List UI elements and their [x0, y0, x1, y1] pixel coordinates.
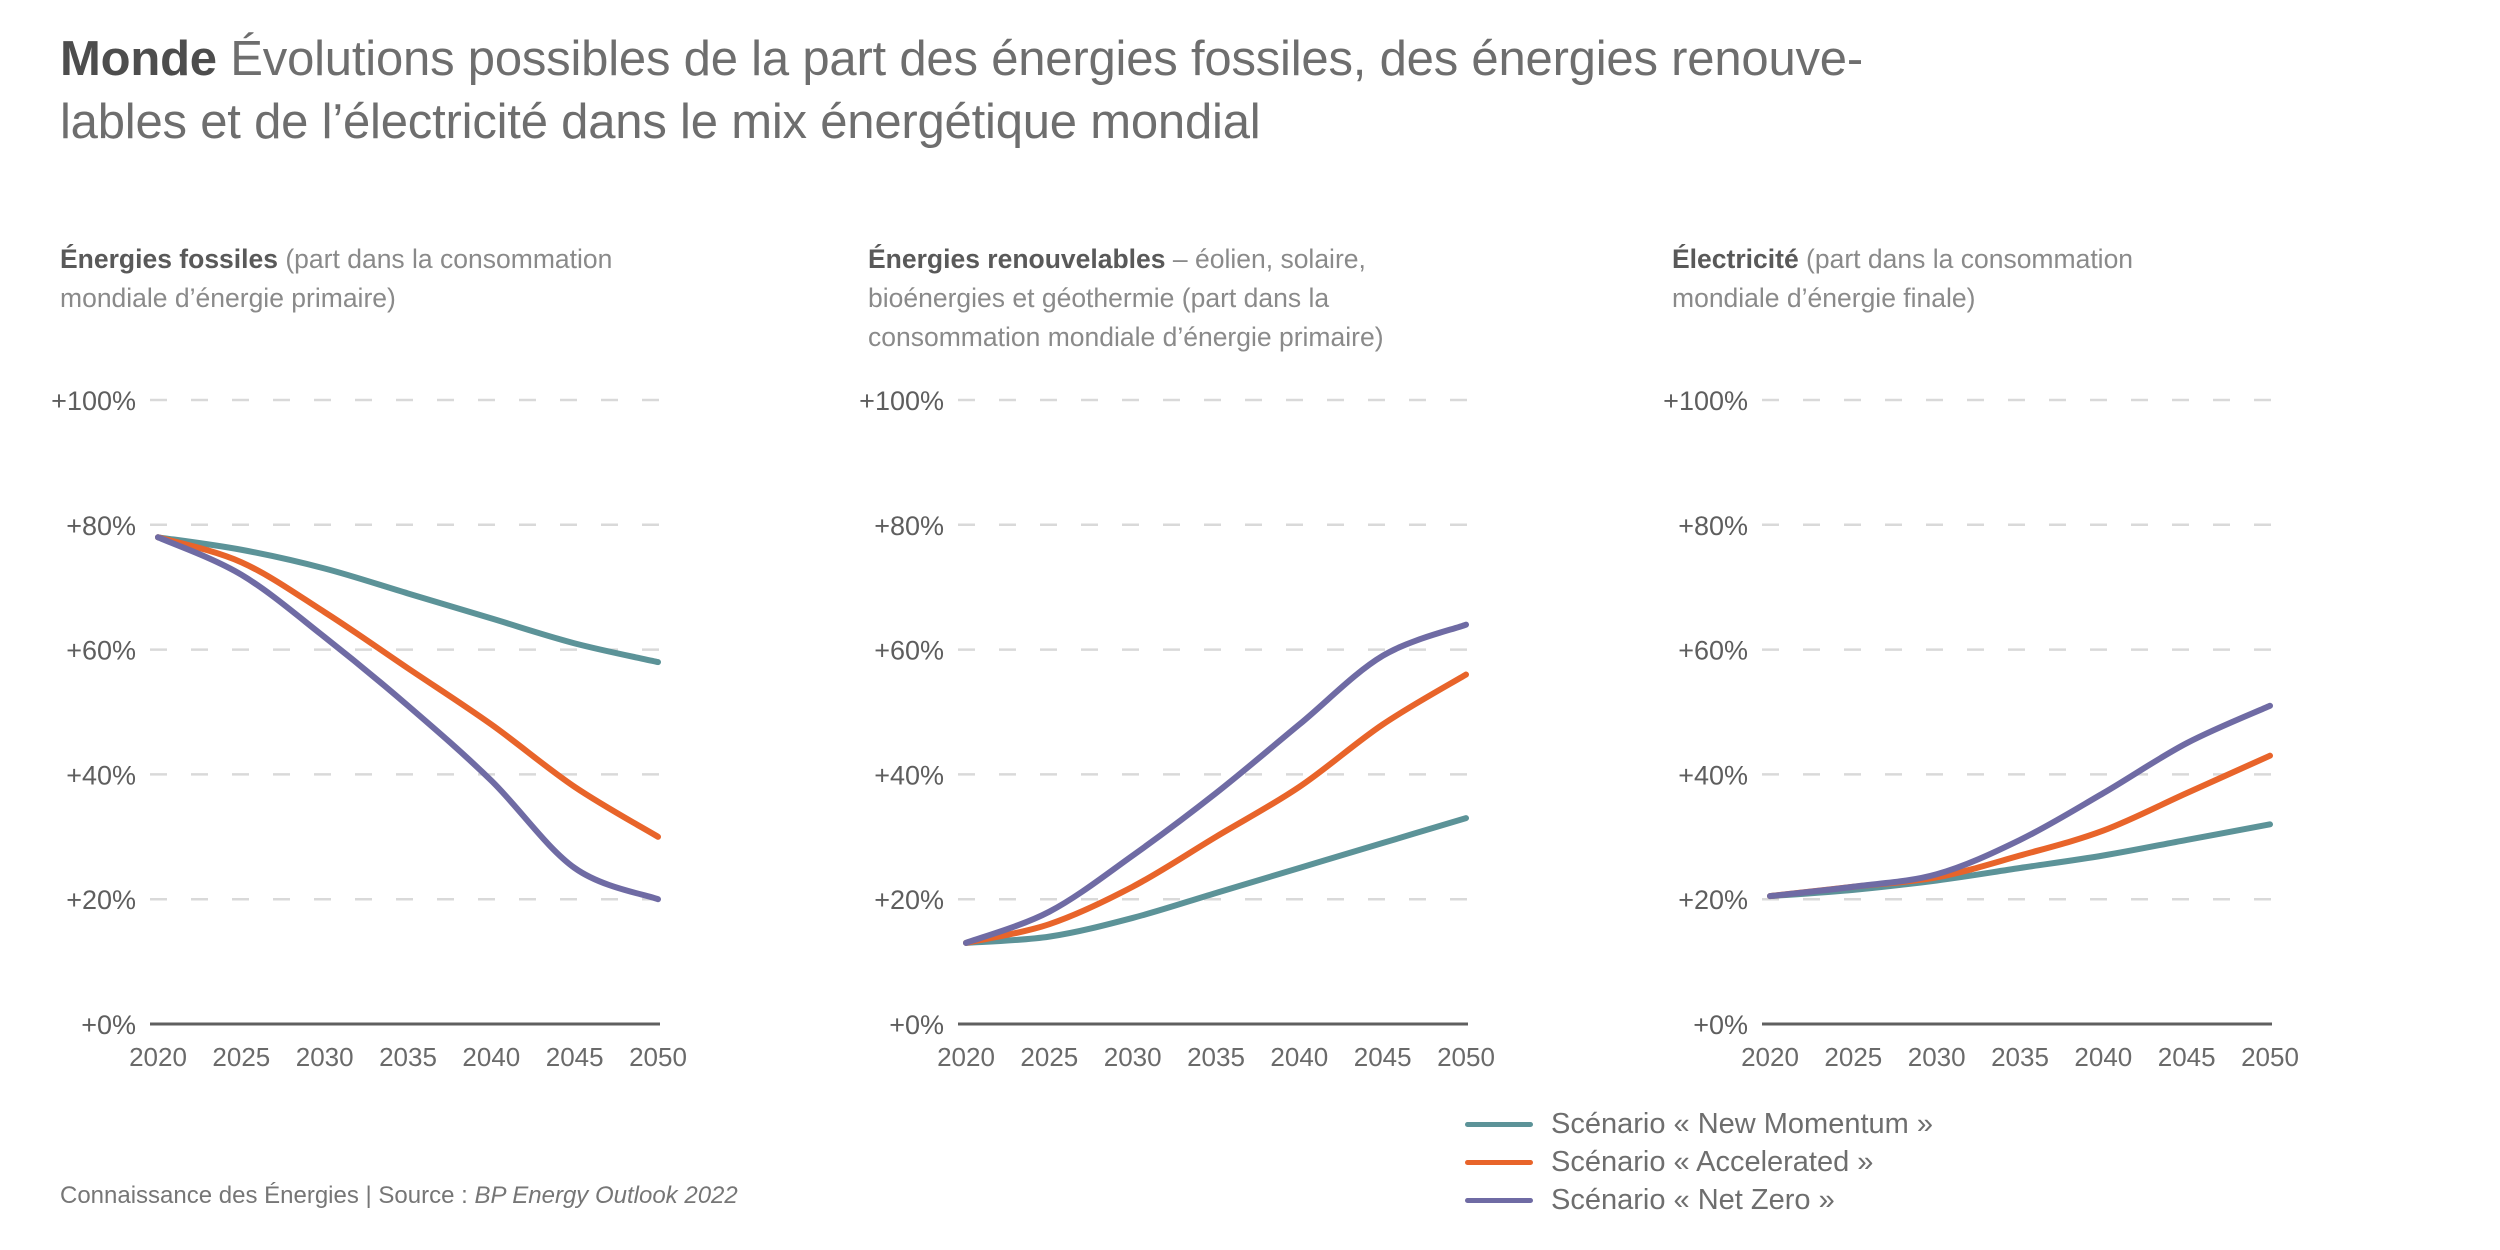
chart-plot-fossil: +0%+20%+40%+60%+80%+100%2020202520302035… [40, 370, 740, 1070]
x-axis-tick-label: 2035 [1187, 1042, 1245, 1070]
footer-source-name: BP Energy Outlook 2022 [474, 1182, 737, 1209]
chart-title-renewables: Énergies renouvelables – éolien, solaire… [868, 240, 1568, 357]
y-axis-tick-label: +100% [51, 386, 136, 416]
x-axis-tick-label: 2045 [1354, 1042, 1412, 1070]
series-line [1770, 756, 2270, 896]
y-axis-tick-label: +80% [1678, 511, 1748, 541]
chart-title-line2-electricity: mondiale d’énergie finale) [1672, 283, 1975, 313]
legend-item-accelerated[interactable]: Scénario « Accelerated » [1465, 1143, 1933, 1181]
chart-title-rest-fossil: (part dans la consommation [278, 244, 612, 274]
legend-item-new-momentum[interactable]: Scénario « New Momentum » [1465, 1105, 1933, 1143]
chart-title-rest-renewables: – éolien, solaire, [1166, 244, 1366, 274]
x-axis-tick-label: 2030 [1104, 1042, 1162, 1070]
footer-source: Connaissance des Énergies | Source : BP … [60, 1182, 738, 1210]
footer-credit: Connaissance des Énergies | Source : [60, 1182, 474, 1209]
y-axis-tick-label: +100% [1663, 386, 1748, 416]
y-axis-tick-label: +0% [889, 1010, 944, 1040]
y-axis-tick-label: +20% [1678, 885, 1748, 915]
x-axis-tick-label: 2045 [2158, 1042, 2216, 1070]
chart-title-line2-fossil: mondiale d’énergie primaire) [60, 283, 396, 313]
x-axis-tick-label: 2035 [379, 1042, 437, 1070]
chart-plot-electricity: +0%+20%+40%+60%+80%+100%2020202520302035… [1652, 370, 2352, 1070]
chart-title-strong-renewables: Énergies renouvelables [868, 244, 1166, 274]
legend-label-accelerated: Scénario « Accelerated » [1551, 1143, 1873, 1181]
y-axis-tick-label: +60% [66, 636, 136, 666]
x-axis-tick-label: 2020 [937, 1042, 995, 1070]
x-axis-tick-label: 2030 [296, 1042, 354, 1070]
y-axis-tick-label: +100% [859, 386, 944, 416]
y-axis-tick-label: +60% [1678, 636, 1748, 666]
x-axis-tick-label: 2035 [1991, 1042, 2049, 1070]
legend-swatch-new-momentum [1465, 1122, 1533, 1127]
x-axis-tick-label: 2050 [1437, 1042, 1495, 1070]
series-line [966, 675, 1466, 943]
y-axis-tick-label: +80% [66, 511, 136, 541]
charts-container: Énergies fossiles (part dans la consomma… [0, 0, 2500, 1250]
chart-title-fossil: Énergies fossiles (part dans la consomma… [60, 240, 840, 318]
y-axis-tick-label: +20% [66, 885, 136, 915]
x-axis-tick-label: 2045 [546, 1042, 604, 1070]
x-axis-tick-label: 2025 [1020, 1042, 1078, 1070]
chart-title-strong-electricity: Électricité [1672, 244, 1799, 274]
x-axis-tick-label: 2025 [1824, 1042, 1882, 1070]
series-line [158, 537, 658, 837]
x-axis-tick-label: 2050 [2241, 1042, 2299, 1070]
chart-svg-renewables: +0%+20%+40%+60%+80%+100%2020202520302035… [848, 370, 1548, 1070]
x-axis-tick-label: 2040 [2074, 1042, 2132, 1070]
x-axis-tick-label: 2030 [1908, 1042, 1966, 1070]
chart-svg-electricity: +0%+20%+40%+60%+80%+100%2020202520302035… [1652, 370, 2352, 1070]
x-axis-tick-label: 2040 [462, 1042, 520, 1070]
y-axis-tick-label: +60% [874, 636, 944, 666]
chart-legend: Scénario « New Momentum » Scénario « Acc… [1465, 1105, 1933, 1219]
legend-label-net-zero: Scénario « Net Zero » [1551, 1181, 1835, 1219]
legend-swatch-net-zero [1465, 1198, 1533, 1203]
x-axis-tick-label: 2020 [129, 1042, 187, 1070]
legend-item-net-zero[interactable]: Scénario « Net Zero » [1465, 1181, 1933, 1219]
x-axis-tick-label: 2040 [1270, 1042, 1328, 1070]
legend-swatch-accelerated [1465, 1160, 1533, 1165]
y-axis-tick-label: +80% [874, 511, 944, 541]
chart-svg-fossil: +0%+20%+40%+60%+80%+100%2020202520302035… [40, 370, 740, 1070]
chart-plot-renewables: +0%+20%+40%+60%+80%+100%2020202520302035… [848, 370, 1548, 1070]
x-axis-tick-label: 2020 [1741, 1042, 1799, 1070]
chart-title-rest-electricity: (part dans la consommation [1799, 244, 2133, 274]
chart-title-line3-renewables: consommation mondiale d’énergie primaire… [868, 322, 1384, 352]
chart-title-electricity: Électricité (part dans la consommation m… [1672, 240, 2372, 318]
legend-label-new-momentum: Scénario « New Momentum » [1551, 1105, 1933, 1143]
y-axis-tick-label: +40% [874, 760, 944, 790]
y-axis-tick-label: +20% [874, 885, 944, 915]
chart-title-strong-fossil: Énergies fossiles [60, 244, 278, 274]
chart-title-line2-renewables: bioénergies et géothermie (part dans la [868, 283, 1329, 313]
y-axis-tick-label: +40% [1678, 760, 1748, 790]
y-axis-tick-label: +0% [81, 1010, 136, 1040]
y-axis-tick-label: +0% [1693, 1010, 1748, 1040]
x-axis-tick-label: 2025 [212, 1042, 270, 1070]
y-axis-tick-label: +40% [66, 760, 136, 790]
x-axis-tick-label: 2050 [629, 1042, 687, 1070]
